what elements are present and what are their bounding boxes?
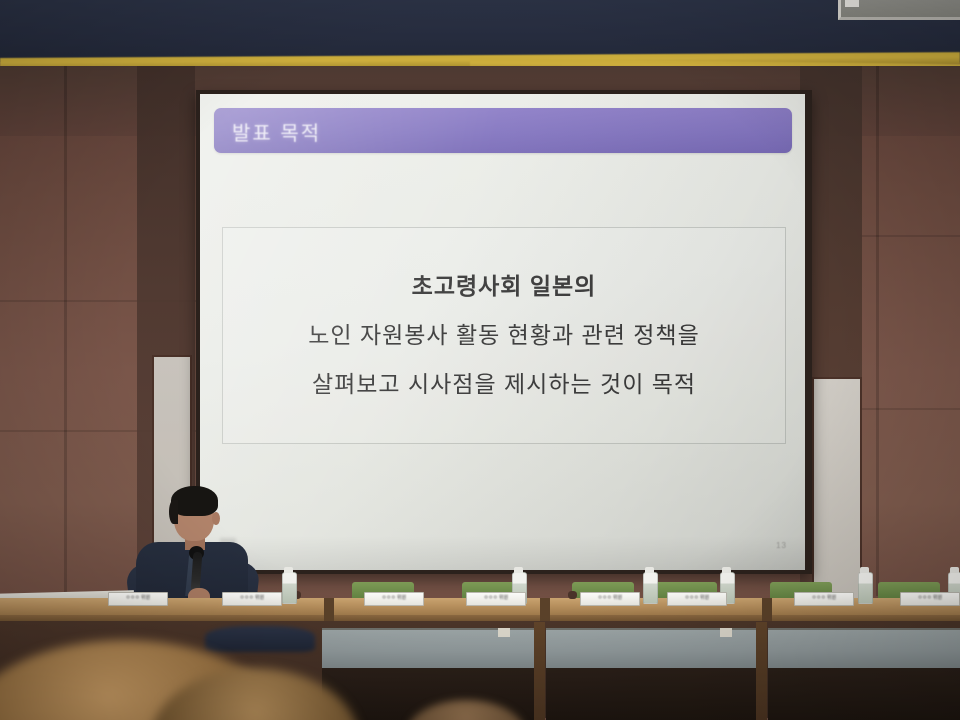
table-gap (540, 598, 550, 622)
sign-swatch (845, 0, 859, 7)
wall-panel-edge (64, 66, 67, 596)
slide-body-box: 초고령사회 일본의 노인 자원봉사 활동 현황과 관련 정책을 살펴보고 시사점… (222, 227, 786, 444)
name-placard-label: ㅇㅇㅇ 위원 (581, 593, 639, 603)
table-shadow (546, 668, 756, 720)
water-bottle (858, 572, 873, 604)
audience-cap (205, 626, 315, 652)
name-placard: ㅇㅇㅇ 위원 (667, 592, 727, 606)
bottle-cap (860, 567, 869, 573)
name-placard: ㅇㅇㅇ 위원 (900, 592, 960, 606)
slide-title: 발표 목적 (232, 117, 321, 146)
projection-screen: 발표 목적 초고령사회 일본의 노인 자원봉사 활동 현황과 관련 정책을 살펴… (200, 94, 805, 570)
table-tab (498, 628, 510, 637)
bottle-cap (514, 567, 523, 573)
wall-seam (860, 235, 960, 237)
bottle-cap (645, 567, 654, 573)
name-placard: ㅇㅇㅇ 위원 (108, 592, 168, 606)
name-placard: ㅇㅇㅇ 위원 (364, 592, 424, 606)
name-placard-label: ㅇㅇㅇ 위원 (467, 593, 525, 603)
presentation-photo: 발표 목적 초고령사회 일본의 노인 자원봉사 활동 현황과 관련 정책을 살펴… (0, 0, 960, 720)
water-bottle (643, 572, 658, 604)
presenter-ear (212, 512, 220, 525)
table-shadow (768, 668, 960, 720)
bottle-cap (284, 567, 293, 573)
table-skirt (768, 628, 960, 670)
presenter-hair-side (169, 500, 178, 524)
wall-seam (860, 408, 960, 410)
presenter-hair (171, 486, 218, 516)
water-bottle (282, 572, 297, 604)
bottle-cap (950, 567, 959, 573)
table-tab (720, 628, 732, 637)
slide-body-line-1: 초고령사회 일본의 (412, 275, 597, 298)
name-placard-label: ㅇㅇㅇ 위원 (109, 593, 167, 603)
table-post (756, 622, 767, 720)
name-placard-label: ㅇㅇㅇ 위원 (365, 593, 423, 603)
slide-page-number: 13 (776, 541, 787, 550)
wall-panel-edge (876, 66, 879, 596)
name-placard-label: ㅇㅇㅇ 위원 (795, 593, 853, 603)
table-post (534, 622, 545, 720)
wall-sign-fragment (838, 0, 960, 20)
slide-body-line-3: 살펴보고 시사점을 제시하는 것이 목적 (312, 373, 696, 396)
name-placard: ㅇㅇㅇ 위원 (580, 592, 640, 606)
mug (568, 591, 577, 599)
pillar-right-panel (812, 377, 862, 616)
name-placard-label: ㅇㅇㅇ 위원 (901, 593, 959, 603)
name-placard: ㅇㅇㅇ 위원 (794, 592, 854, 606)
slide-title-banner: 발표 목적 (214, 108, 792, 153)
screen-bottom-shade (200, 536, 805, 570)
name-placard-label: ㅇㅇㅇ 위원 (223, 593, 281, 603)
bottle-cap (722, 567, 731, 573)
name-placard: ㅇㅇㅇ 위원 (222, 592, 282, 606)
panel-table-row: ㅇㅇㅇ 위원 ㅇㅇㅇ 위원 ㅇㅇㅇ 위원 ㅇㅇㅇ 위원 ㅇㅇㅇ 위원 ㅇㅇㅇ 위… (0, 598, 960, 636)
name-placard: ㅇㅇㅇ 위원 (466, 592, 526, 606)
name-placard-label: ㅇㅇㅇ 위원 (668, 593, 726, 603)
table-gap (762, 598, 772, 622)
table-gap (324, 598, 334, 622)
slide-body-line-2: 노인 자원봉사 활동 현황과 관련 정책을 (308, 324, 700, 347)
